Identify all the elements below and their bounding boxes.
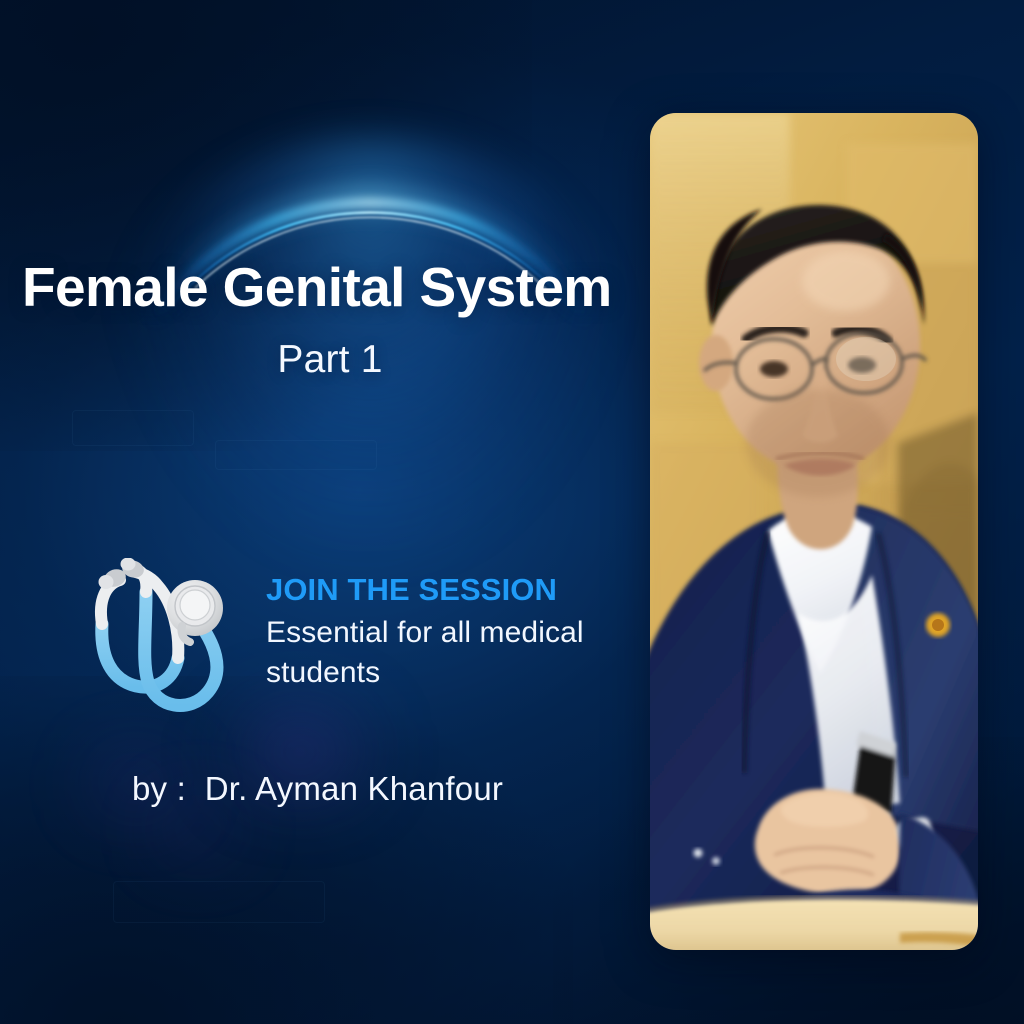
page-title: Female Genital System xyxy=(22,258,662,316)
background-faint-shape xyxy=(113,881,325,923)
stethoscope-icon xyxy=(62,558,252,718)
cta-heading: JOIN THE SESSION xyxy=(266,572,557,608)
presenter-photo-illustration xyxy=(650,113,978,950)
presenter-byline: by : Dr. Ayman Khanfour xyxy=(132,770,503,808)
background-faint-shape xyxy=(215,440,377,470)
background-faint-shape xyxy=(72,410,194,446)
page-subtitle: Part 1 xyxy=(0,338,660,382)
cta-subtext: Essential for all medical students xyxy=(266,613,606,693)
presenter-photo xyxy=(650,113,978,950)
poster-canvas: Female Genital System Part 1 xyxy=(0,0,1024,1024)
background-shadow-top-left xyxy=(0,0,532,451)
